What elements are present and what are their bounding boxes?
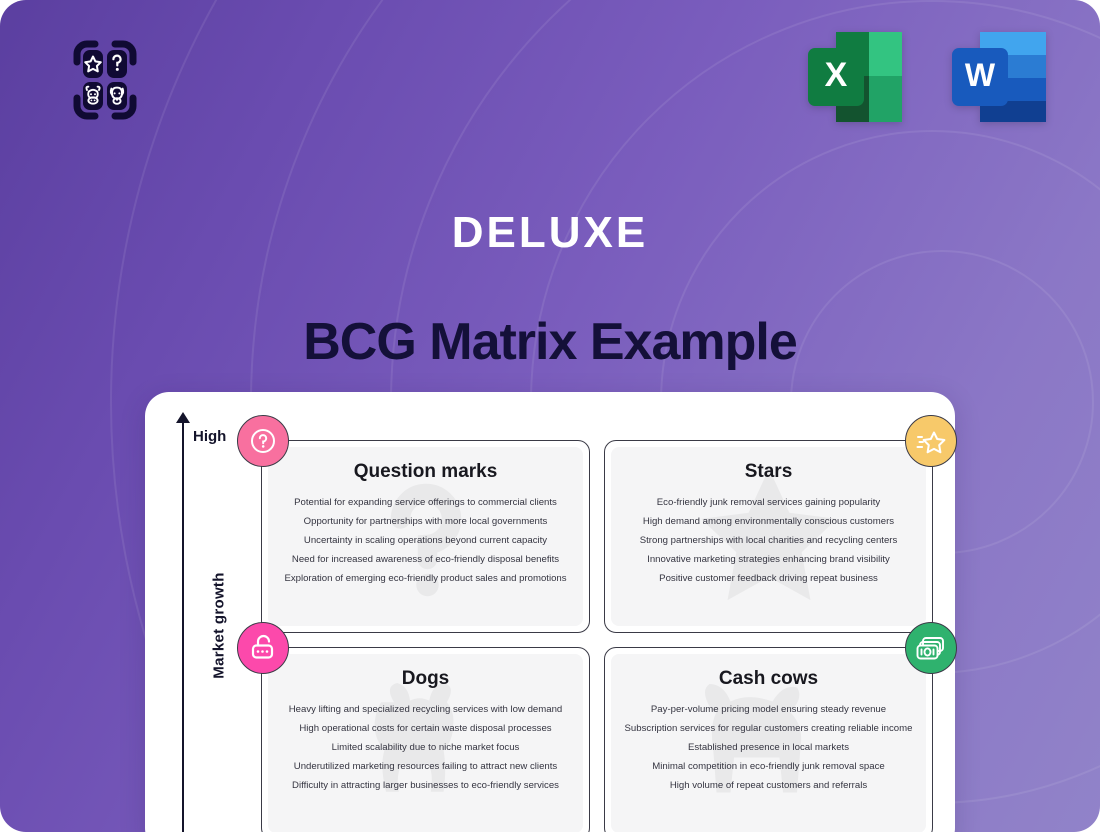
word-icon: W bbox=[948, 28, 1052, 126]
svg-text:X: X bbox=[825, 56, 848, 94]
cow-icon bbox=[83, 82, 103, 110]
list-item: Uncertainty in scaling operations beyond… bbox=[268, 531, 583, 550]
poster-canvas: X W DELUXE BCG Matrix Example High Marke… bbox=[0, 0, 1100, 832]
y-axis-line bbox=[182, 420, 184, 832]
quadrant-title: Dogs bbox=[402, 668, 450, 690]
office-app-icons: X W bbox=[804, 28, 1052, 126]
list-item: Potential for expanding service offering… bbox=[268, 493, 583, 512]
list-item: Heavy lifting and specialized recycling … bbox=[268, 700, 583, 719]
quadrant-stars[interactable]: Stars Eco-friendly junk removal services… bbox=[604, 440, 933, 633]
list-item: Eco-friendly junk removal services gaini… bbox=[611, 493, 926, 512]
list-item: Established presence in local markets bbox=[611, 738, 926, 757]
list-item: Minimal competition in eco-friendly junk… bbox=[611, 758, 926, 777]
list-item: Pay-per-volume pricing model ensuring st… bbox=[611, 700, 926, 719]
quadrant-title: Stars bbox=[745, 461, 793, 483]
list-item: Difficulty in attracting larger business… bbox=[268, 777, 583, 796]
list-item: Strong partnerships with local charities… bbox=[611, 531, 926, 550]
svg-text:W: W bbox=[965, 57, 996, 93]
bcg-animals-logo-icon[interactable] bbox=[55, 30, 155, 130]
dog-icon bbox=[107, 82, 127, 110]
page-title: BCG Matrix Example bbox=[0, 312, 1100, 372]
list-item: High volume of repeat customers and refe… bbox=[611, 777, 926, 796]
list-item: High operational costs for certain waste… bbox=[268, 719, 583, 738]
eyebrow-deluxe: DELUXE bbox=[0, 208, 1100, 258]
list-item: High demand among environmentally consci… bbox=[611, 512, 926, 531]
quadrant-question-marks[interactable]: Question marks Potential for expanding s… bbox=[261, 440, 590, 633]
open-padlock-badge-icon[interactable] bbox=[237, 622, 289, 674]
list-item: Exploration of emerging eco-friendly pro… bbox=[268, 570, 583, 589]
quadrant-dogs[interactable]: Dogs Heavy lifting and specialized recyc… bbox=[261, 647, 590, 832]
quadrant-item-list: Potential for expanding service offering… bbox=[268, 493, 583, 589]
banknotes-badge-icon[interactable] bbox=[905, 622, 957, 674]
bcg-matrix-grid: Question marks Potential for expanding s… bbox=[261, 440, 933, 832]
question-mark-badge-icon[interactable] bbox=[237, 415, 289, 467]
quadrant-cash-cows[interactable]: Cash cows Pay-per-volume pricing model e… bbox=[604, 647, 933, 832]
list-item: Limited scalability due to niche market … bbox=[268, 738, 583, 757]
list-item: Underutilized marketing resources failin… bbox=[268, 758, 583, 777]
excel-icon: X bbox=[804, 28, 908, 126]
quadrant-title: Cash cows bbox=[719, 668, 818, 690]
quadrant-item-list: Pay-per-volume pricing model ensuring st… bbox=[611, 700, 926, 796]
y-axis-top-tick: High bbox=[193, 428, 226, 445]
quadrant-item-list: Heavy lifting and specialized recycling … bbox=[268, 700, 583, 796]
list-item: Opportunity for partnerships with more l… bbox=[268, 512, 583, 531]
list-item: Need for increased awareness of eco-frie… bbox=[268, 551, 583, 570]
quadrant-title: Question marks bbox=[354, 461, 498, 483]
quadrant-item-list: Eco-friendly junk removal services gaini… bbox=[611, 493, 926, 589]
star-badge-icon[interactable] bbox=[905, 415, 957, 467]
y-axis-label: Market growth bbox=[211, 546, 228, 706]
list-item: Positive customer feedback driving repea… bbox=[611, 570, 926, 589]
list-item: Innovative marketing strategies enhancin… bbox=[611, 551, 926, 570]
matrix-card: High Market growth Question m bbox=[145, 392, 955, 832]
list-item: Subscription services for regular custom… bbox=[611, 719, 926, 738]
